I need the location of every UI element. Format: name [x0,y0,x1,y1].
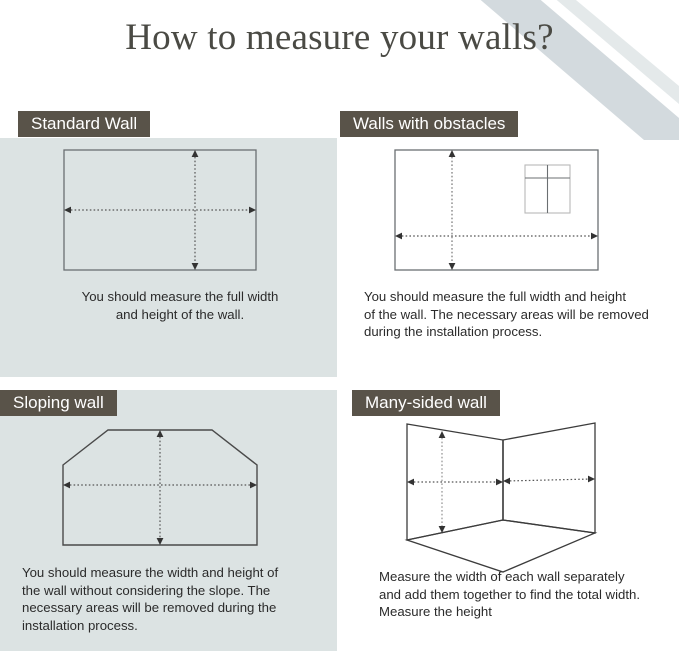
caption-sloping-wall: You should measure the width and height … [22,564,317,634]
diagram-many-sided-wall [385,412,625,577]
height-arrow [449,150,456,270]
width-arrow-right-wall [503,476,595,485]
caption-walls-with-obstacles: You should measure the full width and he… [364,288,664,341]
caption-standard-wall: You should measure the full width and he… [30,288,330,323]
floor-outline [407,520,595,572]
page-title: How to measure your walls? [0,16,679,60]
width-arrow [64,207,256,214]
width-arrow [395,233,598,240]
section-label-sloping-wall: Sloping wall [0,390,117,416]
diagram-sloping-wall [30,415,280,560]
right-wall-outline [503,423,595,533]
section-label-walls-with-obstacles: Walls with obstacles [340,111,518,137]
window-obstacle-icon [525,165,570,213]
caption-many-sided-wall: Measure the width of each wall separatel… [379,568,669,621]
infographic-root: How to measure your walls? Standard Wall… [0,0,679,651]
height-arrow [157,430,164,545]
section-label-standard-wall: Standard Wall [18,111,150,137]
wall-outline [395,150,598,270]
diagram-walls-with-obstacles [390,140,615,290]
width-arrow-left-wall [407,479,503,486]
diagram-standard-wall [40,140,280,290]
